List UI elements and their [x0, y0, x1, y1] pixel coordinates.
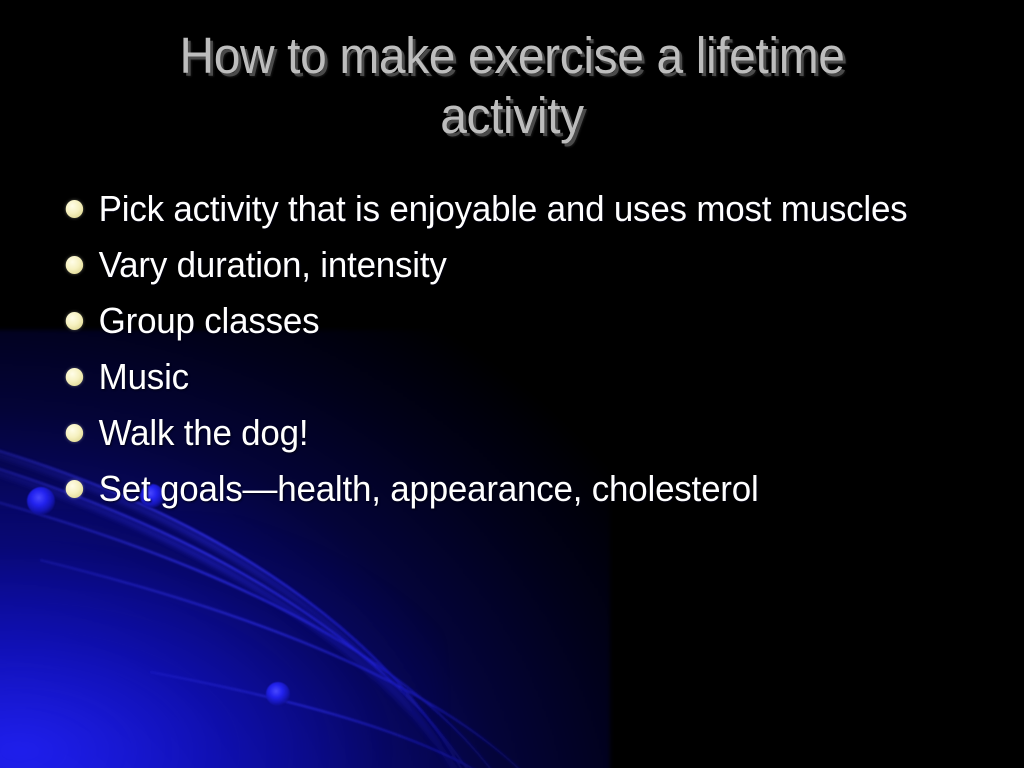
slide-bullet-list: Pick activity that is enjoyable and uses… [56, 186, 936, 522]
list-item: Vary duration, intensity [56, 242, 910, 287]
list-item: Walk the dog! [56, 410, 910, 455]
bullet-point-icon [66, 480, 83, 498]
list-item-label: Vary duration, intensity [99, 242, 910, 287]
slide-title: How to make exercise a lifetime activity [87, 26, 937, 146]
list-item-label: Walk the dog! [99, 410, 910, 455]
list-item: Music [56, 354, 910, 399]
bullet-point-icon [66, 312, 83, 330]
corner-glow-secondary-decoration [0, 520, 440, 768]
list-item-label: Music [99, 354, 910, 399]
list-item: Group classes [56, 298, 910, 343]
presentation-slide: How to make exercise a lifetime activity… [0, 0, 1024, 768]
list-item-label: Set goals—health, appearance, cholestero… [99, 466, 910, 511]
bullet-point-icon [66, 368, 83, 386]
list-item-label: Group classes [99, 298, 910, 343]
list-item: Set goals—health, appearance, cholestero… [56, 466, 910, 511]
bullet-point-icon [66, 424, 83, 442]
node-dot-decoration [266, 682, 290, 706]
bullet-point-icon [66, 256, 83, 274]
list-item-label: Pick activity that is enjoyable and uses… [99, 186, 910, 231]
list-item: Pick activity that is enjoyable and uses… [56, 186, 910, 231]
node-dot-decoration [27, 487, 55, 515]
bullet-point-icon [66, 200, 83, 218]
